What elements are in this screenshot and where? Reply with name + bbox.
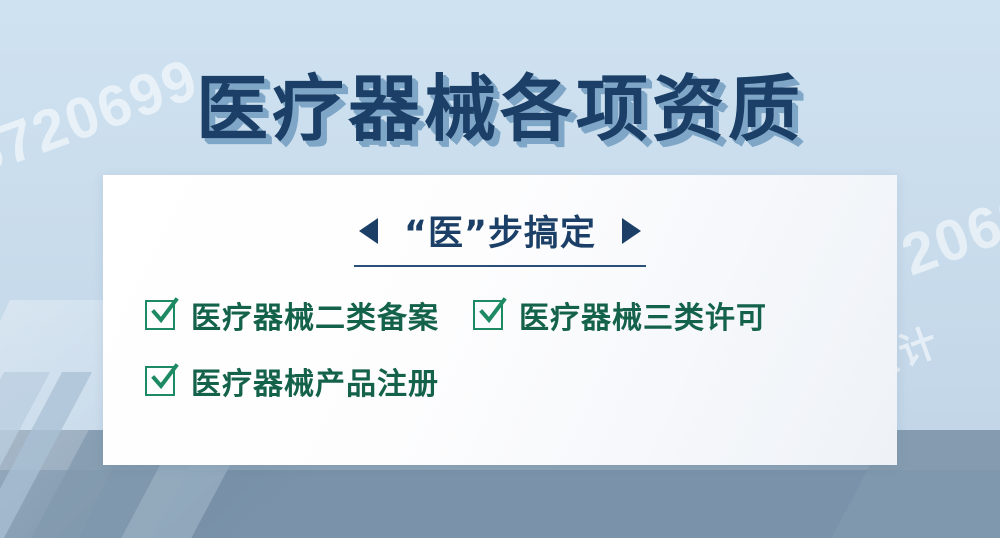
checklist-row: 医疗器械二类备案 医疗器械三类许可 bbox=[145, 293, 865, 337]
triangle-left-icon bbox=[359, 218, 378, 244]
checklist-row: 医疗器械产品注册 bbox=[145, 359, 865, 403]
content-card: “医”步搞定 医疗器械二类备案 bbox=[103, 175, 897, 465]
checklist: 医疗器械二类备案 医疗器械三类许可 bbox=[145, 293, 865, 425]
divider bbox=[354, 265, 646, 267]
subtitle-row: “医”步搞定 bbox=[103, 205, 897, 256]
checklist-item-label: 医疗器械产品注册 bbox=[191, 359, 439, 403]
checklist-item-label: 医疗器械三类许可 bbox=[519, 293, 767, 337]
title-block: 医疗器械各项资质 bbox=[0, 50, 1000, 155]
poster-canvas: 15720699 颜会计 18915720699 18915720699 颜会计… bbox=[0, 0, 1000, 538]
checklist-item: 医疗器械三类许可 bbox=[473, 293, 767, 337]
checkbox-checked-icon bbox=[473, 300, 503, 330]
checklist-item-label: 医疗器械二类备案 bbox=[191, 293, 439, 337]
checkbox-checked-icon bbox=[145, 300, 175, 330]
checklist-item: 医疗器械产品注册 bbox=[145, 359, 439, 403]
subtitle: “医”步搞定 bbox=[404, 205, 596, 256]
triangle-right-icon bbox=[622, 218, 641, 244]
page-title: 医疗器械各项资质 bbox=[196, 50, 804, 155]
checklist-item: 医疗器械二类备案 bbox=[145, 293, 439, 337]
checkbox-checked-icon bbox=[145, 366, 175, 396]
